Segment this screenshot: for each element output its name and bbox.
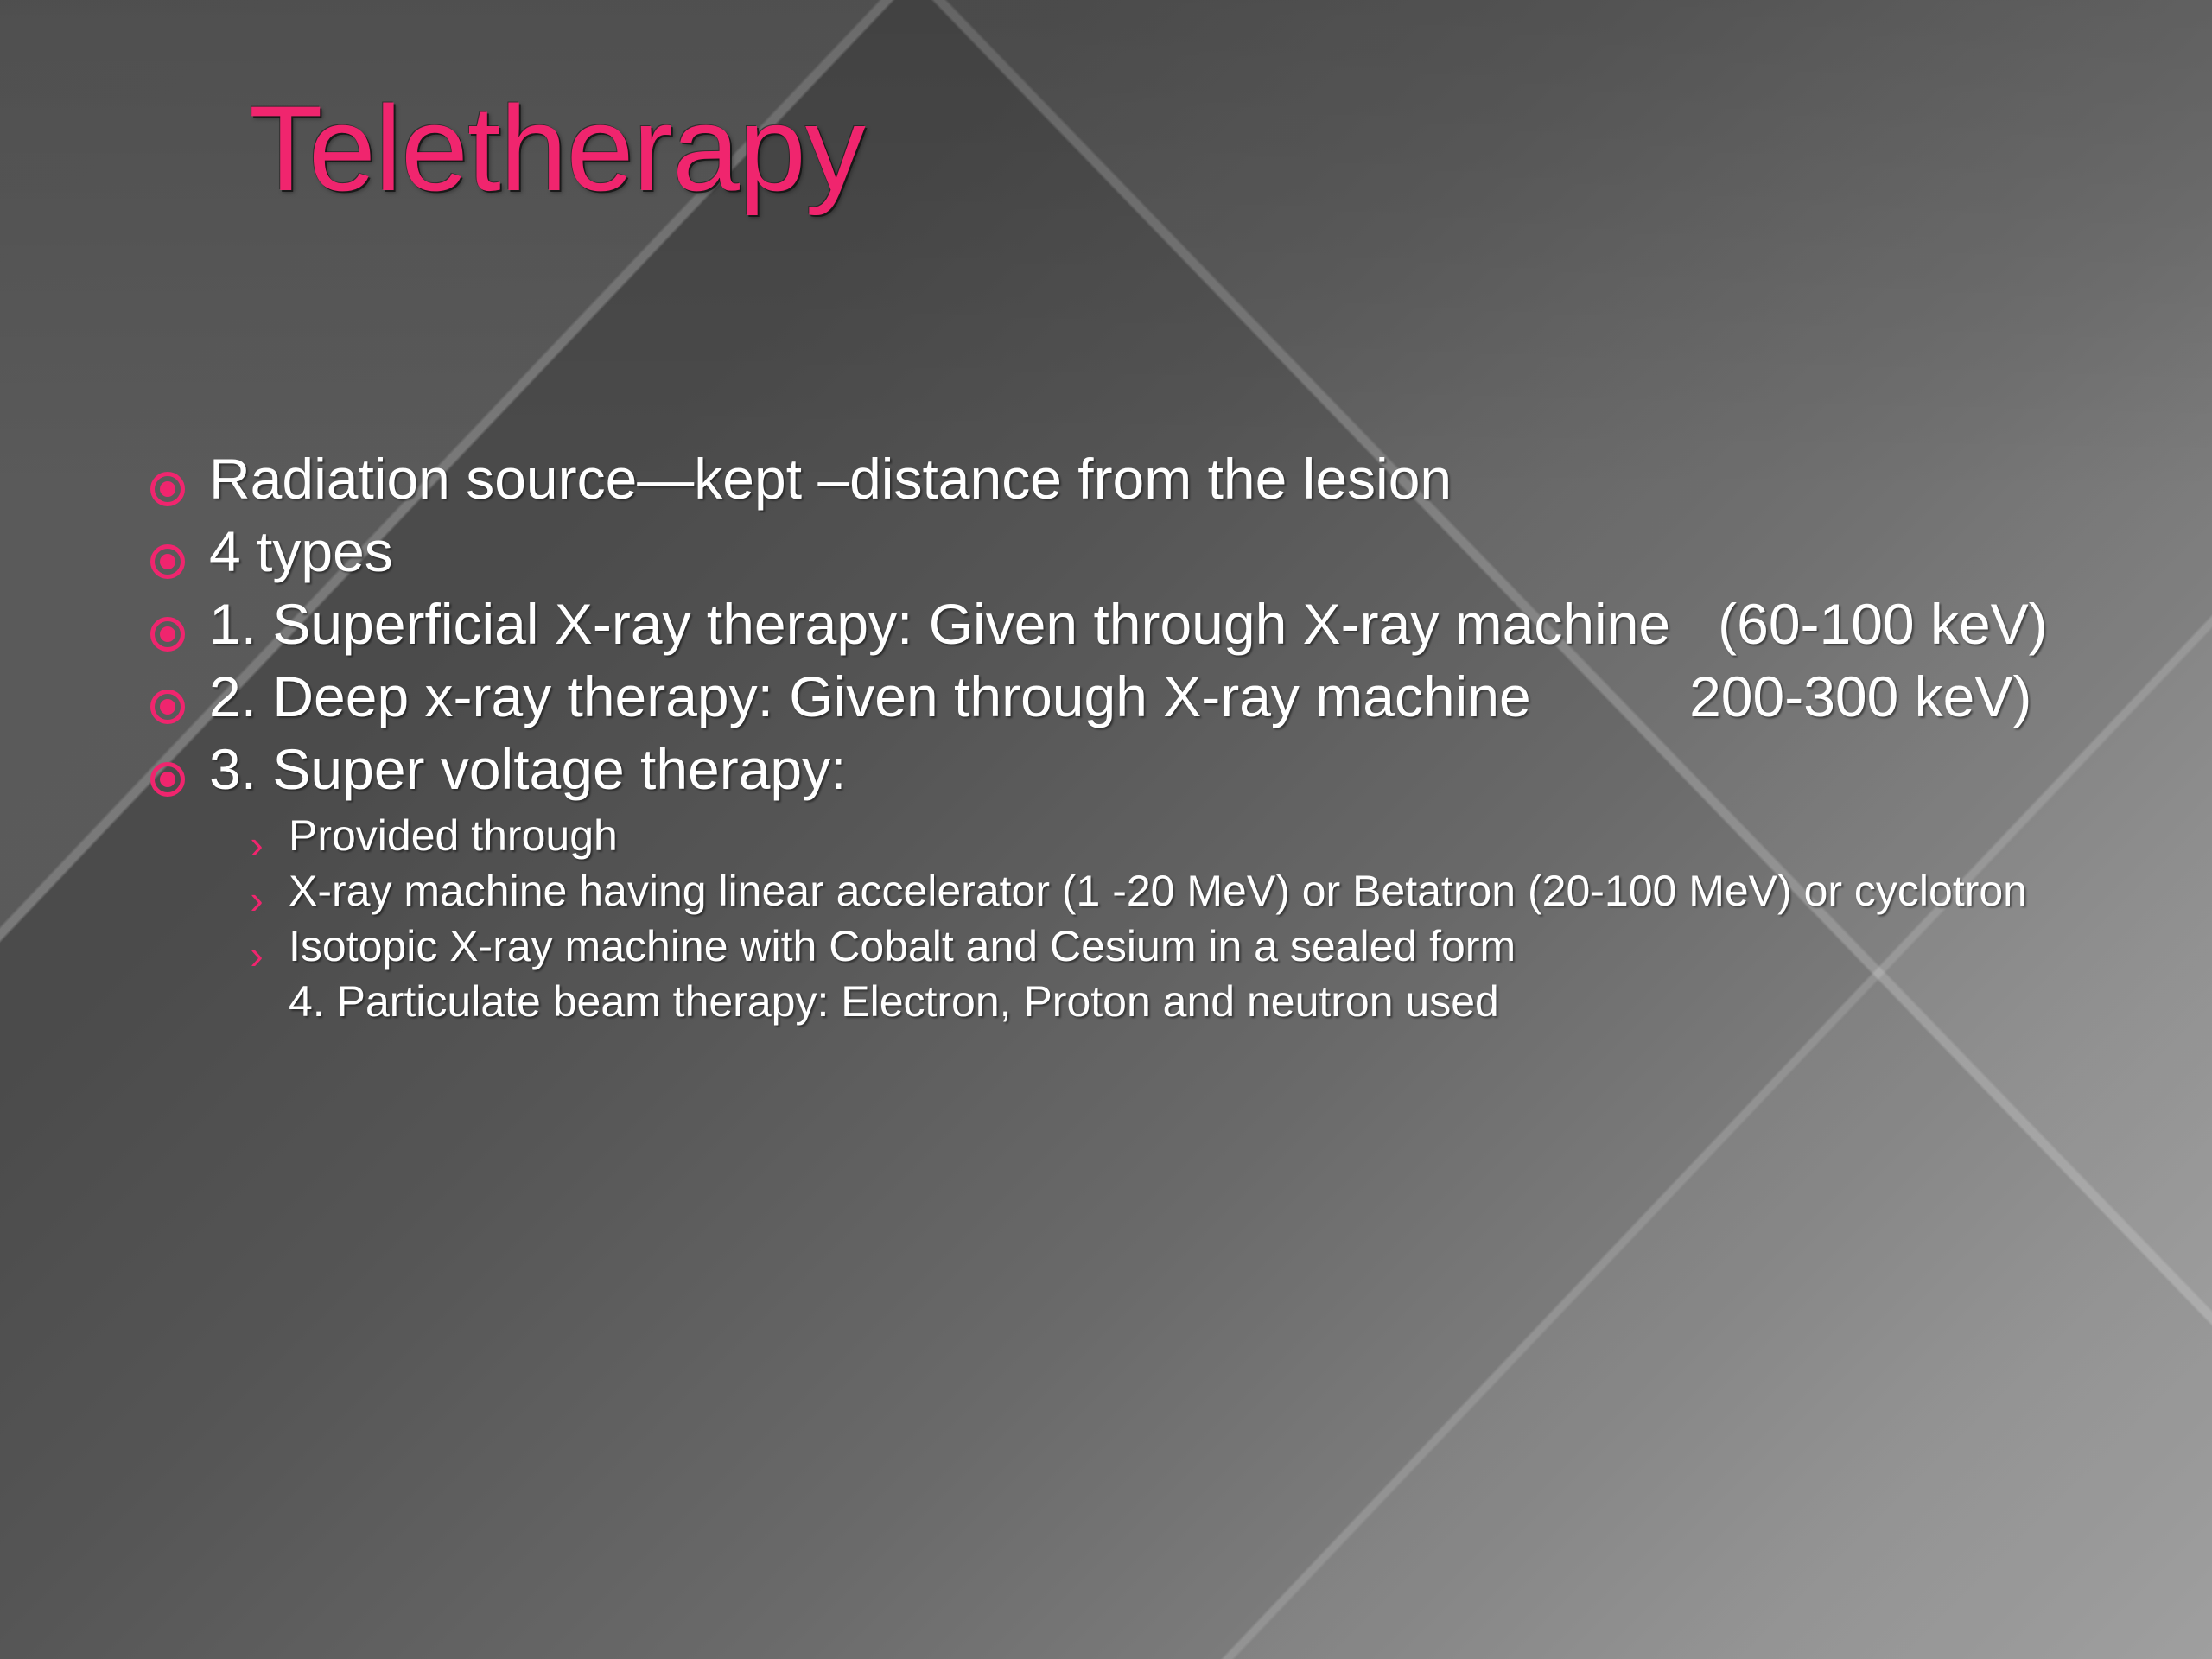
target-dot-icon [147,468,195,517]
chevron-right-icon: › [242,880,271,919]
slide-body-content: Radiation source—kept –distance from the… [147,449,2134,1028]
sub-bullet-item: › X-ray machine having linear accelerato… [242,868,2134,919]
target-dot-icon [147,541,195,589]
bullet-text: 1. Superficial X-ray therapy: Given thro… [209,594,2134,655]
chevron-right-icon: › [242,824,271,864]
bullet-text: 3. Super voltage therapy: [209,740,2134,800]
sub-bullet-item-no-marker: 4. Particulate beam therapy: Electron, P… [242,978,2134,1025]
sub-bullet-item: › Isotopic X-ray machine with Cobalt and… [242,923,2134,975]
bullet-text: 4 types [209,522,2134,582]
bullet-item: 3. Super voltage therapy: [147,740,2134,807]
target-dot-icon [147,759,195,807]
bullet-text: Radiation source—kept –distance from the… [209,449,2134,510]
presentation-slide: Teletherapy Radiation source—kept –dista… [0,0,2212,1659]
sub-bullet-text: Provided through [289,812,2134,859]
bullet-item: Radiation source—kept –distance from the… [147,449,2134,517]
target-dot-icon [147,613,195,662]
bullet-item: 2. Deep x-ray therapy: Given through X-r… [147,667,2134,734]
sub-bullet-item: › Provided through [242,812,2134,864]
slide-title: Teletherapy [249,83,865,213]
bullet-text: 2. Deep x-ray therapy: Given through X-r… [209,667,2134,728]
chevron-right-icon: › [242,935,271,975]
target-dot-icon [147,686,195,734]
bullet-item: 1. Superficial X-ray therapy: Given thro… [147,594,2134,662]
sub-bullet-text: Isotopic X-ray machine with Cobalt and C… [289,923,2134,969]
bullet-item: 4 types [147,522,2134,589]
sub-bullet-text: 4. Particulate beam therapy: Electron, P… [289,978,2134,1025]
sub-bullet-text: X-ray machine having linear accelerator … [289,868,2134,914]
